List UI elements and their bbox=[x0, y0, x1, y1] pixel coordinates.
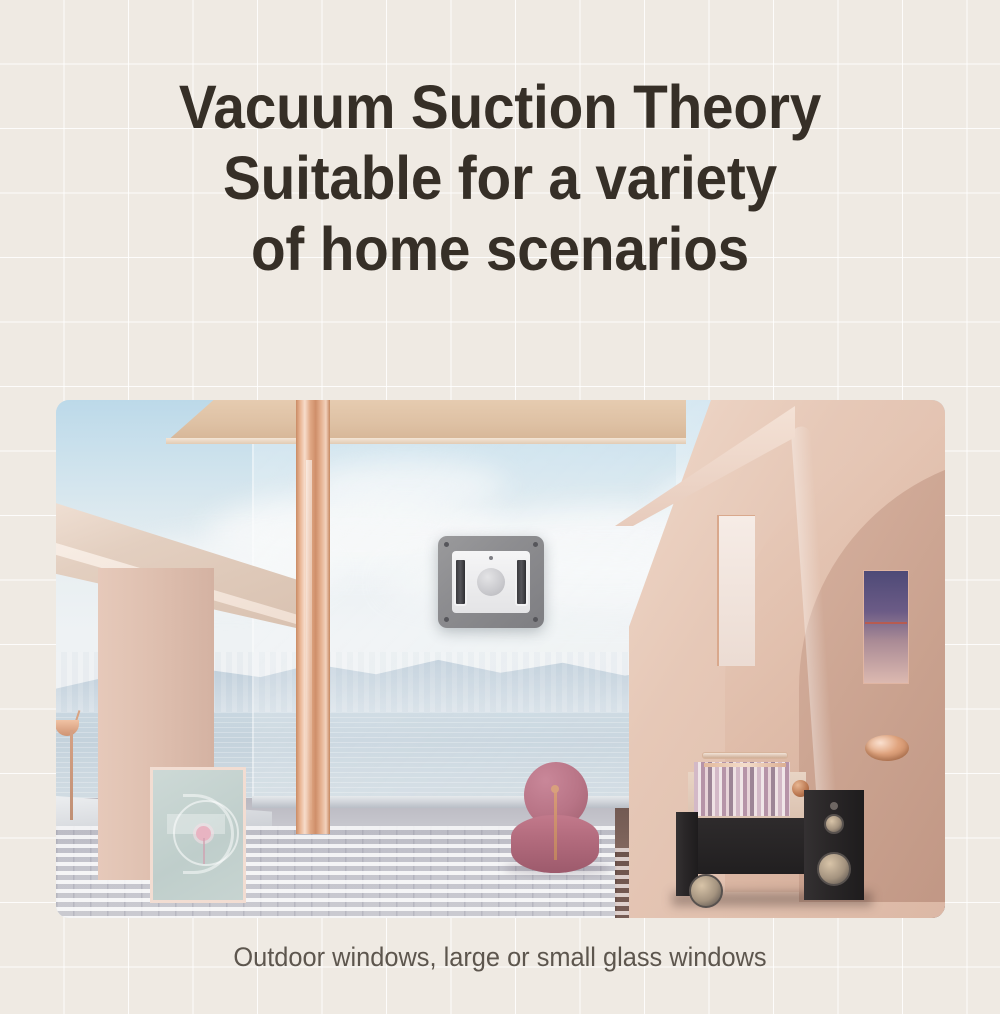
robot-corner-screw bbox=[533, 542, 538, 547]
chair-copper-rod bbox=[554, 788, 557, 860]
robot-corner-screw bbox=[444, 542, 449, 547]
speaker-cone-small bbox=[824, 814, 844, 834]
page-title: Vacuum Suction Theory Suitable for a var… bbox=[35, 72, 965, 285]
copper-wall-sculpture bbox=[865, 735, 909, 761]
speaker-right bbox=[804, 790, 864, 900]
ceiling-beam-highlight bbox=[166, 438, 686, 444]
speaker-tweeter bbox=[830, 802, 838, 810]
right-wall-panel bbox=[717, 515, 755, 666]
robot-suction-disc bbox=[477, 568, 505, 596]
robot-track-right bbox=[515, 558, 528, 606]
chair-rod-knob bbox=[551, 785, 559, 793]
vinyl-records bbox=[694, 762, 790, 816]
inner-room-artwork-line bbox=[865, 622, 907, 624]
left-wall bbox=[98, 568, 214, 880]
ceiling-beam bbox=[166, 400, 686, 442]
robot-indicator-led bbox=[489, 556, 493, 560]
photo-caption: Outdoor windows, large or small glass wi… bbox=[30, 940, 970, 974]
shelf-top-bar-secondary bbox=[704, 763, 786, 767]
framed-abstract-poster bbox=[150, 767, 246, 903]
window-cleaning-robot bbox=[438, 536, 544, 628]
robot-corner-screw bbox=[533, 617, 538, 622]
record-shelf-base bbox=[688, 818, 806, 874]
product-feature-page: Vacuum Suction Theory Suitable for a var… bbox=[0, 0, 1000, 1014]
scene-photo bbox=[56, 400, 945, 918]
robot-face-panel bbox=[452, 551, 530, 613]
shelf-top-bar bbox=[702, 752, 788, 759]
inner-room-artwork bbox=[863, 570, 909, 684]
speaker-cone bbox=[689, 874, 723, 908]
floor-lamp-stand bbox=[70, 730, 73, 820]
headline-line-1: Vacuum Suction Theory bbox=[35, 72, 965, 143]
speaker-left bbox=[676, 812, 698, 896]
poster-stem bbox=[203, 838, 205, 864]
speaker-cone-large bbox=[817, 852, 851, 886]
copper-column-highlight bbox=[306, 460, 312, 820]
headline-line-3: of home scenarios bbox=[35, 214, 965, 285]
copper-column bbox=[296, 400, 330, 834]
robot-corner-screw bbox=[444, 617, 449, 622]
robot-track-left bbox=[454, 558, 467, 606]
headline-line-2: Suitable for a variety bbox=[35, 143, 965, 214]
